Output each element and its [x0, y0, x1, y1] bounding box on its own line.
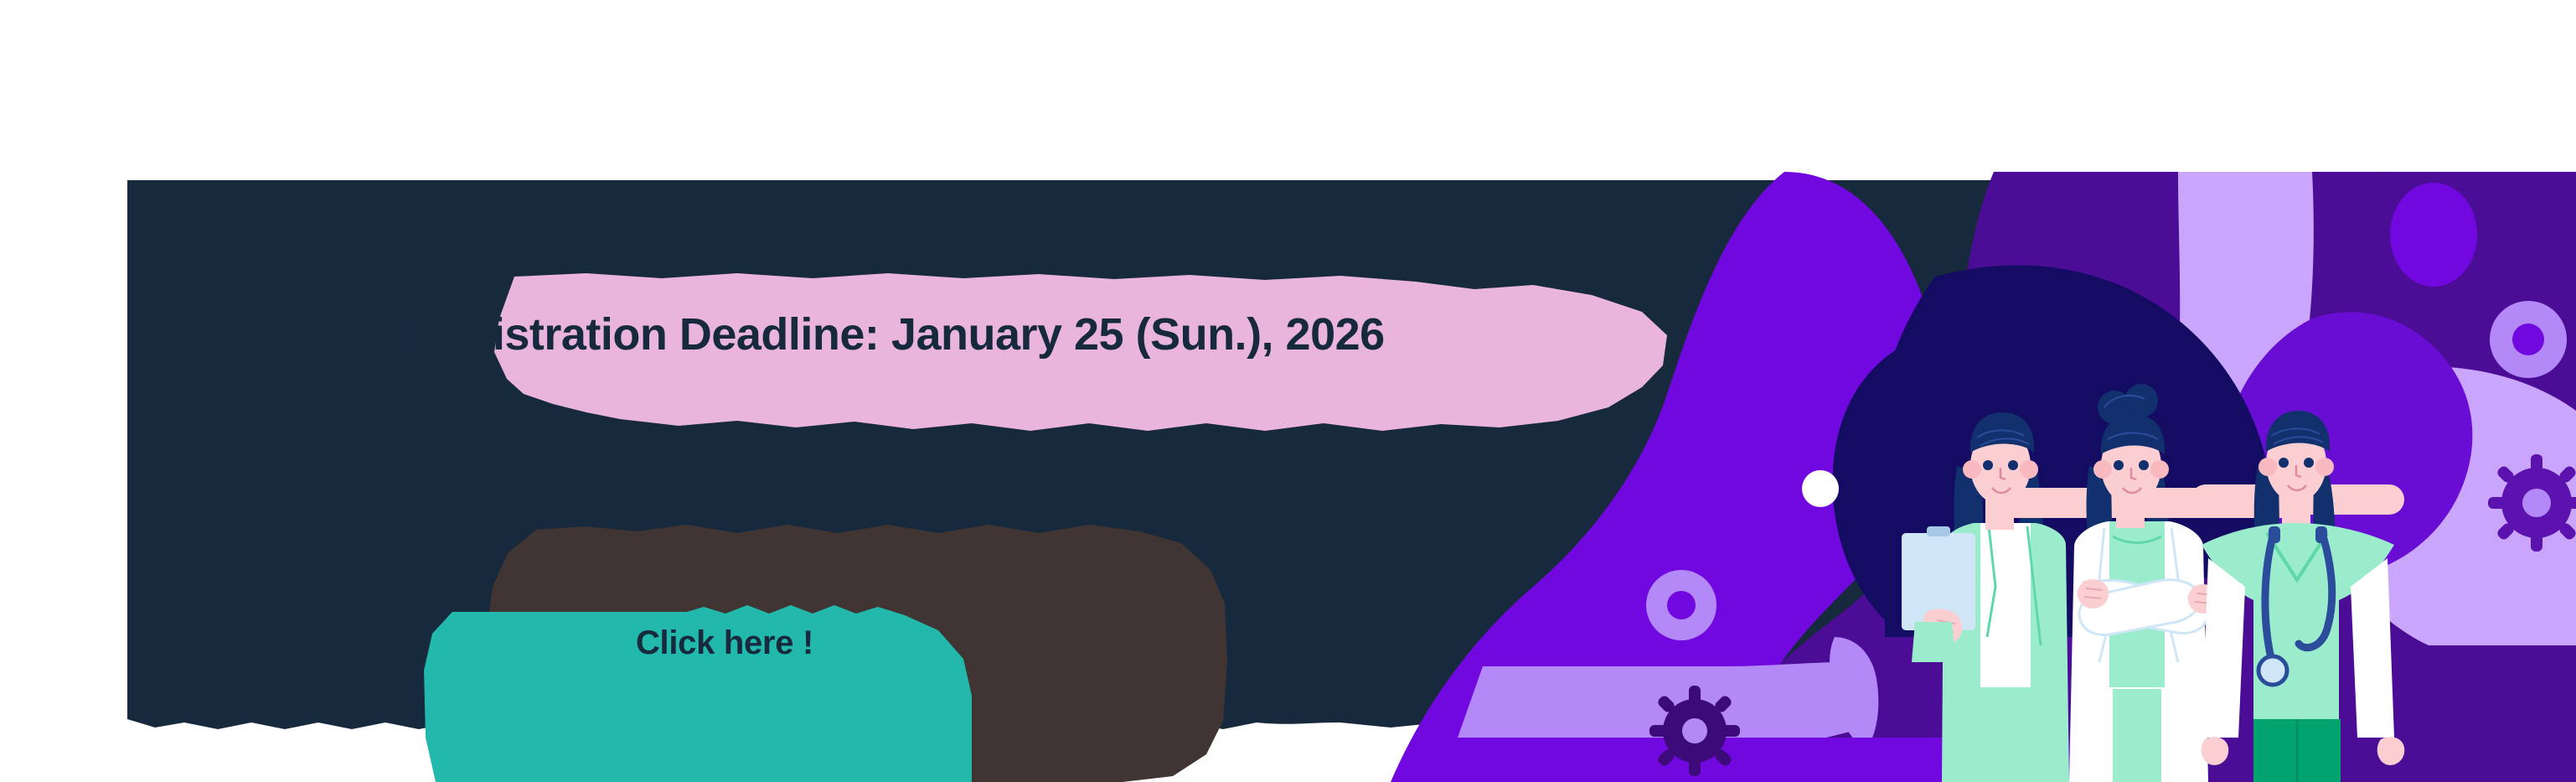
decor-oval	[2390, 183, 2477, 287]
click-here-label: Click here !	[457, 624, 993, 662]
virus-icon-large	[1649, 686, 1740, 776]
ring-icon-b	[2490, 301, 2567, 378]
registration-deadline-text: Registration Deadline: January 25 (Sun.)…	[126, 308, 1667, 360]
dot-icon-white	[1802, 470, 1839, 507]
deadline-ribbon-area	[503, 272, 1667, 453]
ring-icon-a	[1646, 570, 1716, 640]
promo-banner: Registration Deadline: January 25 (Sun.)…	[0, 0, 2576, 782]
